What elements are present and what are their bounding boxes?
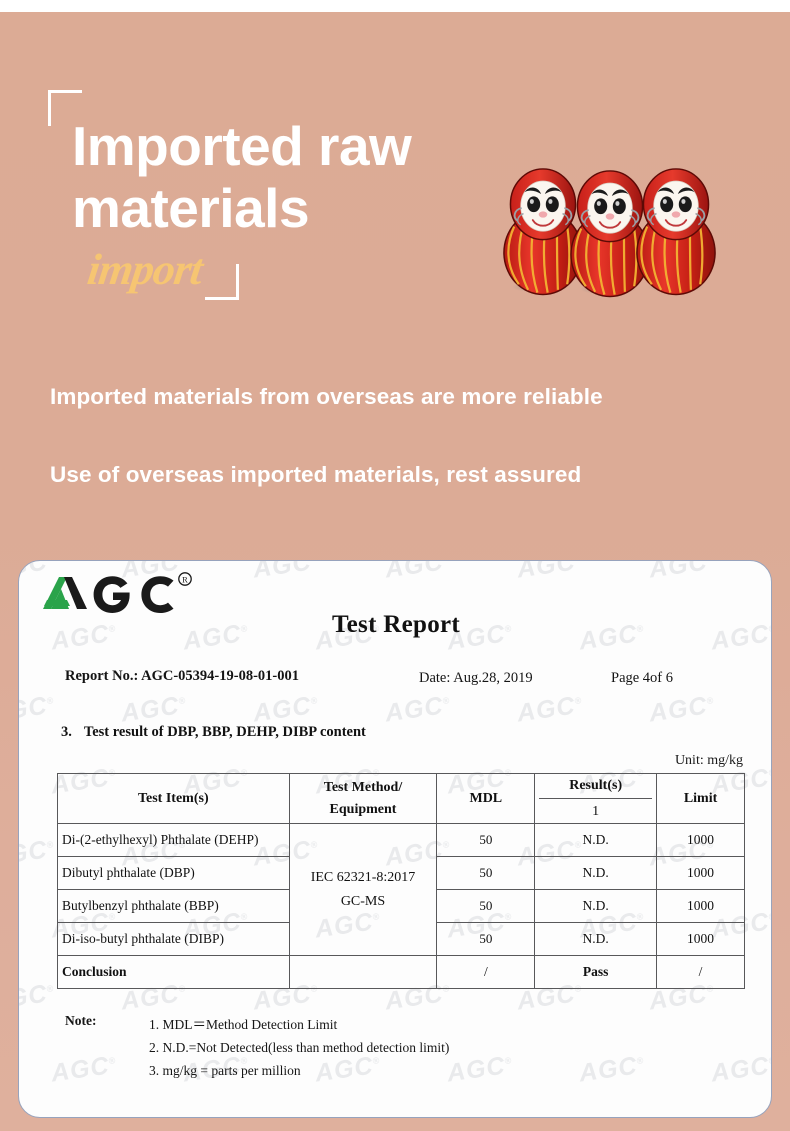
cell-conclusion-label: Conclusion (58, 956, 290, 989)
section-heading: 3.Test result of DBP, BBP, DEHP, DIBP co… (61, 724, 366, 741)
tagline-secondary: Use of overseas imported materials, rest… (50, 462, 581, 488)
header-test-method-line2: Equipment (330, 802, 397, 817)
cell-conclusion-result: Pass (535, 956, 657, 989)
note-item: 3. mg/kg = parts per million (149, 1059, 449, 1082)
table-row: Di-(2-ethylhexyl) Phthalate (DEHP) IEC 6… (58, 824, 745, 857)
agc-logo-icon: R (37, 569, 197, 617)
report-title: Test Report (19, 611, 772, 639)
header-results-label: Result(s) (539, 778, 652, 799)
report-date: Date: Aug.28, 2019 (419, 670, 533, 687)
hero-script-word: import (84, 244, 205, 295)
cell-limit: 1000 (657, 923, 745, 956)
notes-list: 1. MDL＝Method Detection Limit 2. N.D.=No… (149, 1013, 449, 1083)
cell-test-method: IEC 62321-8:2017 GC-MS (289, 824, 437, 956)
method-equipment: GC-MS (341, 894, 385, 909)
cell-limit: 1000 (657, 890, 745, 923)
cell-mdl: 50 (437, 857, 535, 890)
header-results-sample: 1 (539, 799, 652, 820)
hero-banner: Imported raw materials import (0, 12, 790, 1131)
table-header-row: Test Item(s) Test Method/ Equipment MDL … (58, 774, 745, 824)
cell-test-item: Di-iso-butyl phthalate (DIBP) (58, 923, 290, 956)
report-number: Report No.: AGC-05394-19-08-01-001 (65, 668, 299, 685)
unit-label: Unit: mg/kg (675, 753, 743, 769)
note-item: 2. N.D.=Not Detected(less than method de… (149, 1036, 449, 1059)
cell-result: N.D. (535, 890, 657, 923)
section-title: Test result of DBP, BBP, DEHP, DIBP cont… (84, 724, 366, 740)
cell-mdl: 50 (437, 824, 535, 857)
hero-title: Imported raw materials (72, 116, 502, 239)
cell-mdl: 50 (437, 923, 535, 956)
cell-test-item: Dibutyl phthalate (DBP) (58, 857, 290, 890)
header-results: Result(s) 1 (535, 774, 657, 824)
cell-test-item: Butylbenzyl phthalate (BBP) (58, 890, 290, 923)
header-test-method-line1: Test Method/ (324, 780, 402, 795)
daruma-dolls-illustration (498, 150, 718, 300)
method-standard: IEC 62321-8:2017 (311, 870, 416, 885)
cell-test-item: Di-(2-ethylhexyl) Phthalate (DEHP) (58, 824, 290, 857)
cell-conclusion-limit: / (657, 956, 745, 989)
tagline-primary: Imported materials from overseas are mor… (50, 384, 603, 410)
header-test-item: Test Item(s) (58, 774, 290, 824)
cell-conclusion-mdl: / (437, 956, 535, 989)
test-results-table: Test Item(s) Test Method/ Equipment MDL … (57, 773, 745, 989)
notes-label: Note: (65, 1013, 96, 1029)
test-report-card: AGC®AGC®AGC®AGC®AGC®AGC®AGC®AGC®AGC®AGC®… (18, 560, 772, 1118)
cell-limit: 1000 (657, 824, 745, 857)
cell-limit: 1000 (657, 857, 745, 890)
corner-bracket-bottom-right-icon (205, 264, 239, 300)
cell-conclusion-method (289, 956, 437, 989)
table-row-conclusion: Conclusion / Pass / (58, 956, 745, 989)
header-limit: Limit (657, 774, 745, 824)
report-page-number: Page 4of 6 (611, 670, 673, 687)
cell-result: N.D. (535, 857, 657, 890)
section-number: 3. (61, 724, 72, 740)
cell-mdl: 50 (437, 890, 535, 923)
svg-text:R: R (182, 574, 188, 584)
cell-result: N.D. (535, 923, 657, 956)
header-mdl: MDL (437, 774, 535, 824)
note-item: 1. MDL＝Method Detection Limit (149, 1013, 449, 1036)
cell-result: N.D. (535, 824, 657, 857)
header-test-method: Test Method/ Equipment (289, 774, 437, 824)
